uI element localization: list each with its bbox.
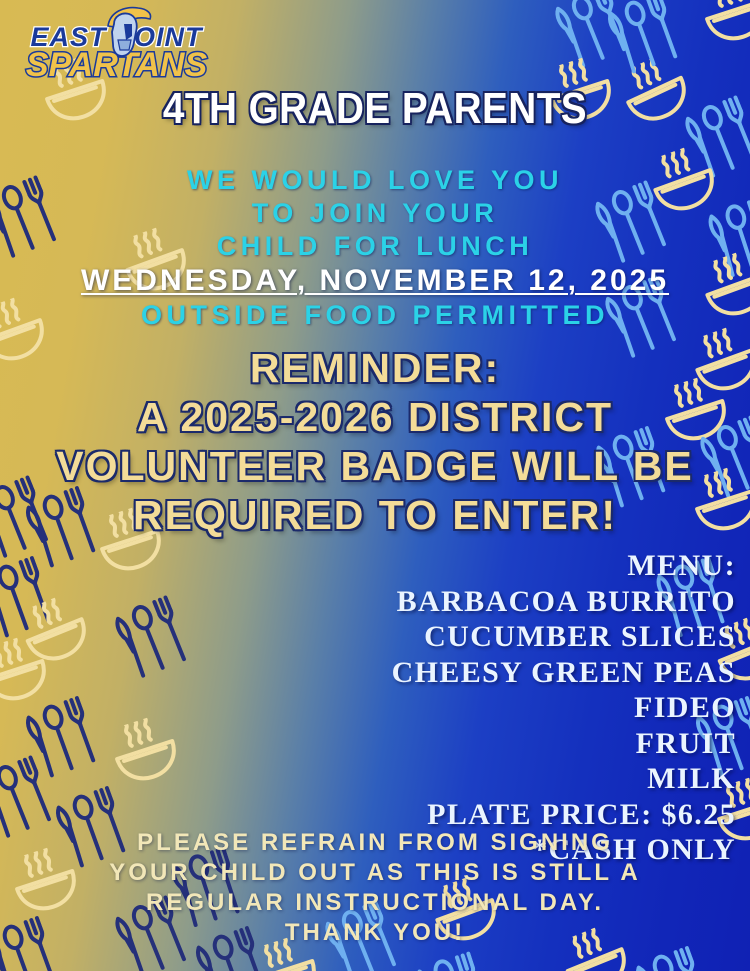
invite-line-3: CHILD FOR LUNCH	[0, 230, 750, 263]
cutlery-trio-icon	[0, 552, 58, 647]
reminder-line-1: REMINDER:	[0, 344, 750, 393]
cutlery-trio-icon	[19, 692, 104, 787]
volunteer-badge-reminder: REMINDER: A 2025-2026 DISTRICT VOLUNTEER…	[0, 344, 750, 540]
plate-price: PLATE PRICE: $6.25	[306, 797, 736, 833]
menu-item: FRUIT	[306, 726, 736, 762]
menu-item: MILK	[306, 761, 736, 797]
footer-line-1: PLEASE REFRAIN FROM SIGNING	[0, 828, 750, 858]
reminder-line-2: A 2025-2026 DISTRICT	[0, 393, 750, 442]
footer-line-3: REGULAR INSTRUCTIONAL DAY.	[0, 888, 750, 918]
steaming-bowl-icon	[692, 0, 750, 51]
spartan-helmet-icon	[98, 6, 154, 58]
lunch-invitation-flyer: EAST POINT SPARTANS 4TH GRADE PARENTS WE…	[0, 0, 750, 971]
reminder-line-3: VOLUNTEER BADGE WILL BE	[0, 442, 750, 491]
footer-line-2: YOUR CHILD OUT AS THIS IS STILL A	[0, 858, 750, 888]
invite-line-2: TO JOIN YOUR	[0, 197, 750, 230]
steaming-bowl-icon	[0, 631, 58, 712]
east-point-spartans-logo: EAST POINT SPARTANS	[14, 6, 219, 82]
menu-item: FIDEO	[306, 690, 736, 726]
menu-item: CHEESY GREEN PEAS	[306, 655, 736, 691]
footer-note: PLEASE REFRAIN FROM SIGNING YOUR CHILD O…	[0, 828, 750, 948]
lunch-menu: MENU: BARBACOA BURRITO CUCUMBER SLICES C…	[306, 548, 736, 868]
invite-line-1: WE WOULD LOVE YOU	[0, 164, 750, 197]
steaming-bowl-icon	[11, 589, 99, 673]
menu-item: BARBACOA BURRITO	[306, 584, 736, 620]
footer-line-4: THANK YOU!	[0, 918, 750, 948]
cutlery-trio-icon	[548, 0, 635, 77]
menu-heading: MENU:	[306, 548, 736, 584]
invitation-block: WE WOULD LOVE YOU TO JOIN YOUR CHILD FOR…	[0, 164, 750, 332]
cutlery-trio-icon	[409, 947, 492, 971]
cutlery-trio-icon	[108, 591, 195, 687]
event-date: WEDNESDAY, NOVEMBER 12, 2025	[0, 263, 750, 299]
cutlery-trio-icon	[601, 0, 686, 82]
menu-item: CUCUMBER SLICES	[306, 619, 736, 655]
outside-food-note: OUTSIDE FOOD PERMITTED	[0, 299, 750, 332]
page-title: 4TH GRADE PARENTS	[45, 86, 705, 132]
steaming-bowl-icon	[102, 711, 188, 792]
reminder-line-4: REQUIRED TO ENTER!	[0, 491, 750, 540]
